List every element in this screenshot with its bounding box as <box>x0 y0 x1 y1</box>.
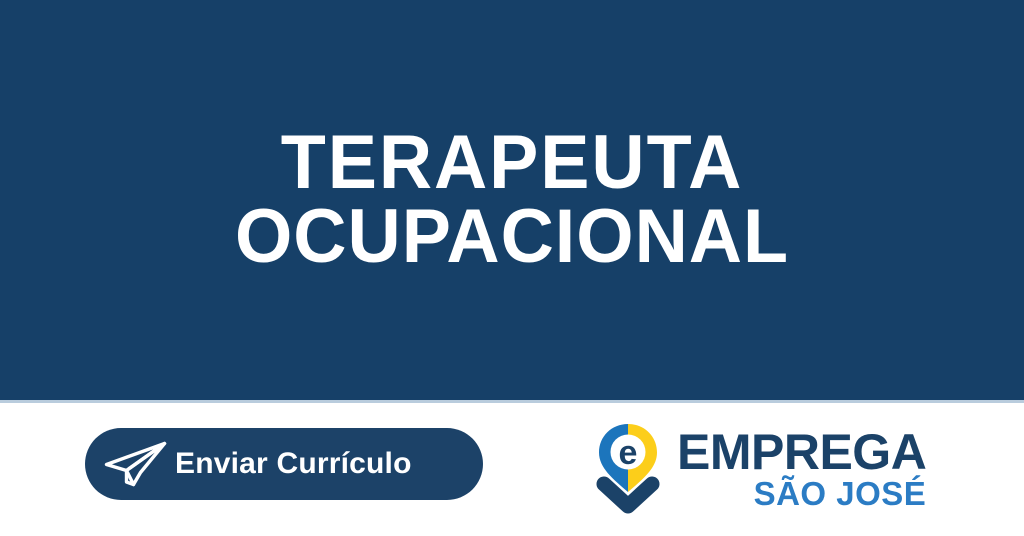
page-title: TERAPEUTA OCUPACIONAL <box>15 126 1008 275</box>
brand-name: EMPREGA <box>677 429 926 475</box>
paper-plane-icon <box>99 436 173 492</box>
map-pin-icon: e <box>593 422 663 514</box>
job-posting-card: TERAPEUTA OCUPACIONAL Enviar Currículo <box>0 0 1024 536</box>
hero-panel: TERAPEUTA OCUPACIONAL <box>0 0 1024 400</box>
job-title-line-2: OCUPACIONAL <box>39 200 986 274</box>
svg-text:e: e <box>619 434 638 472</box>
job-title-line-1: TERAPEUTA <box>39 126 986 200</box>
brand-wordmark: EMPREGA SÃO JOSÉ <box>677 425 926 512</box>
footer-bar: Enviar Currículo <box>0 403 1024 536</box>
send-resume-button[interactable]: Enviar Currículo <box>85 428 483 500</box>
send-resume-label: Enviar Currículo <box>175 447 412 481</box>
brand-city: SÃO JOSÉ <box>754 477 927 512</box>
brand-logo[interactable]: e EMPREGA SÃO JOSÉ <box>593 418 923 518</box>
